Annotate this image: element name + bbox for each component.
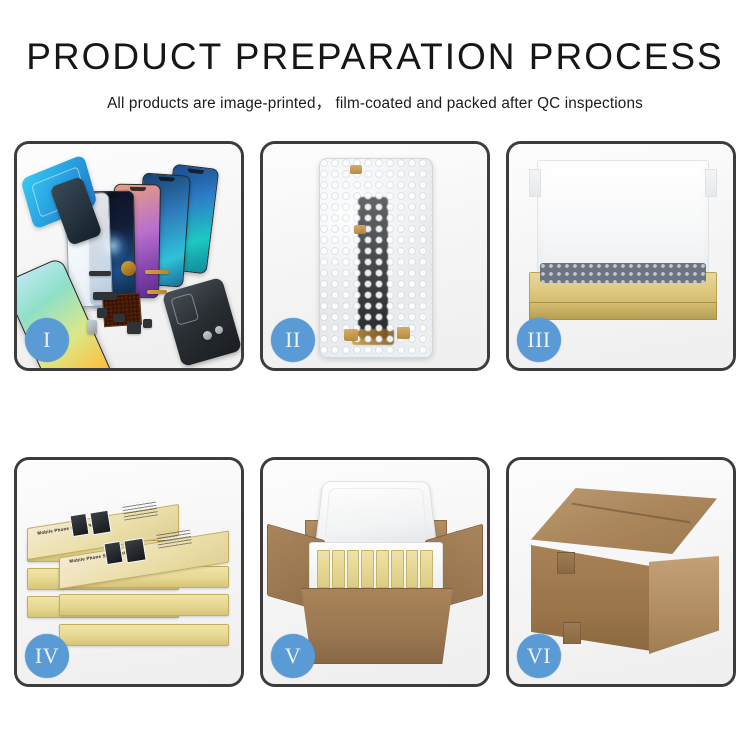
carton-left-face: [531, 545, 651, 651]
small-part: [143, 319, 152, 328]
phone-notch: [158, 177, 174, 182]
step-badge-6: VI: [517, 634, 561, 678]
inner-box: [317, 550, 330, 588]
carton-front-wall: [291, 588, 463, 664]
process-step-6[interactable]: VI: [506, 457, 736, 687]
box-window-graphic: [69, 513, 89, 537]
step-6-image: VI: [509, 460, 733, 684]
process-step-3[interactable]: III: [506, 141, 736, 371]
tape-piece: [350, 165, 362, 174]
carton-right-face: [649, 556, 719, 654]
bubble-wrap-bag: [319, 158, 433, 358]
phone-notch: [129, 187, 145, 191]
step-3-image: III: [509, 144, 733, 368]
tape-piece: [354, 225, 366, 234]
process-grid: I II III: [14, 141, 736, 687]
phone-notch: [188, 168, 204, 173]
inner-box: [332, 550, 345, 588]
process-step-4[interactable]: Mobile Phone Spare Parts Mobile Phone Sp…: [14, 457, 244, 687]
carton-tape-tab: [563, 622, 581, 644]
bracket-part: [93, 292, 117, 300]
step-badge-4: IV: [25, 634, 69, 678]
camera-part: [127, 322, 141, 334]
page-header: PRODUCT PREPARATION PROCESS All products…: [0, 0, 750, 113]
box-front-edge: [529, 302, 717, 320]
flex-cable-part: [147, 290, 167, 294]
step-5-image: V: [263, 460, 487, 684]
process-step-1[interactable]: I: [14, 141, 244, 371]
small-part: [97, 308, 107, 318]
bubble-texture: [320, 159, 432, 357]
step-badge-1: I: [25, 318, 69, 362]
box-window-graphic: [123, 538, 146, 564]
flex-cable-part: [145, 270, 169, 274]
inner-box: [391, 550, 404, 588]
sim-tray-part: [87, 320, 97, 334]
inner-box: [406, 550, 419, 588]
spare-part: [89, 271, 111, 276]
step-badge-2: II: [271, 318, 315, 362]
phone-housing-frame: [162, 277, 243, 367]
page-subtitle: All products are image-printed， film-coa…: [0, 91, 750, 113]
foam-box-lid: [315, 481, 437, 547]
screw-part: [203, 331, 212, 340]
tape-piece: [344, 329, 358, 341]
inner-box: [347, 550, 360, 588]
speaker-part: [121, 261, 136, 276]
step-2-image: II: [263, 144, 487, 368]
box-window-graphic: [89, 510, 111, 536]
process-step-2[interactable]: II: [260, 141, 490, 371]
inner-boxes-row: [317, 550, 433, 588]
stacked-box: [59, 624, 229, 646]
step-1-image: I: [17, 144, 241, 368]
step-badge-3: III: [517, 318, 561, 362]
step-4-image: Mobile Phone Spare Parts Mobile Phone Sp…: [17, 460, 241, 684]
inner-box: [361, 550, 374, 588]
stacked-box: [59, 594, 229, 616]
inner-box: [420, 550, 433, 588]
process-step-5[interactable]: V: [260, 457, 490, 687]
step-badge-5: V: [271, 634, 315, 678]
small-part: [113, 314, 125, 322]
carton-tape-tab: [557, 552, 575, 574]
page-title: PRODUCT PREPARATION PROCESS: [0, 38, 750, 77]
tape-piece: [397, 327, 410, 339]
inner-box: [376, 550, 389, 588]
screw-part: [215, 326, 223, 334]
box-window-graphic: [103, 541, 123, 565]
